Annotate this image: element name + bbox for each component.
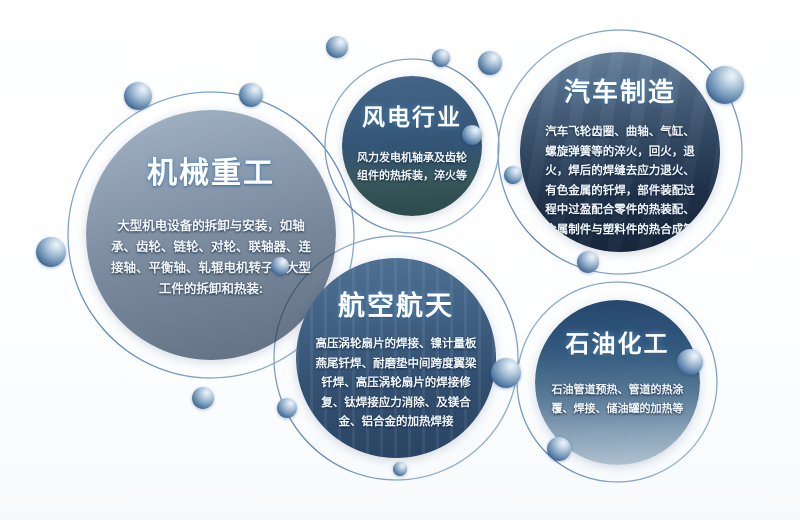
sphere-10	[504, 166, 522, 184]
bubble-desc-petro: 石油管道预热、管道的热涂覆、焊接、储油罐的加热等	[547, 381, 689, 419]
bubble-title-aero: 航空航天	[338, 284, 454, 323]
sphere-17	[393, 462, 407, 476]
sphere-7	[432, 49, 450, 67]
sphere-16	[277, 398, 297, 418]
sphere-13	[677, 349, 703, 375]
infographic-canvas: 机械重工 大型机电设备的拆卸与安装，如轴承、齿轮、链轮、对轮、联轴器、连接轴、平…	[0, 0, 800, 520]
bubble-desc-auto: 汽车飞轮齿圈、曲轴、气缸、螺旋弹簧等的淬火，回火，退火，焊后的焊缝去应力退火、有…	[540, 123, 700, 240]
sphere-2	[239, 83, 263, 107]
sphere-5	[462, 125, 482, 145]
bubble-title-auto: 汽车制造	[564, 72, 676, 109]
sphere-4	[192, 387, 214, 409]
bubble-title-petro: 石油化工	[566, 324, 670, 359]
sphere-6	[326, 36, 348, 58]
bubble-title-machinery: 机械重工	[147, 148, 275, 192]
sphere-12	[491, 358, 521, 388]
sphere-1	[124, 82, 152, 110]
sphere-15	[271, 257, 289, 275]
sphere-3	[36, 237, 66, 267]
bubble-desc-wind: 风力发电机轴承及齿轮组件的热拆装，淬火等	[353, 149, 471, 185]
sphere-8	[478, 51, 502, 75]
sphere-11	[577, 251, 599, 273]
bubble-automobile-manufacturing[interactable]: 汽车制造 汽车飞轮齿圈、曲轴、气缸、螺旋弹簧等的淬火，回火，退火，焊后的焊缝去应…	[520, 52, 720, 252]
bubble-aerospace-industry[interactable]: 航空航天 高压涡轮扇片的焊接、镍计量板燕尾钎焊、耐磨垫中间跨度翼梁钎焊、高压涡轮…	[296, 258, 496, 458]
bubble-wind-power-industry[interactable]: 风电行业 风力发电机轴承及齿轮组件的热拆装，淬火等	[342, 76, 482, 216]
sphere-9	[706, 66, 744, 104]
sphere-14	[547, 437, 571, 461]
bubble-desc-aero: 高压涡轮扇片的焊接、镍计量板燕尾钎焊、耐磨垫中间跨度翼梁钎焊、高压涡轮扇片的焊接…	[315, 335, 477, 433]
bubble-title-wind: 风电行业	[362, 98, 462, 132]
